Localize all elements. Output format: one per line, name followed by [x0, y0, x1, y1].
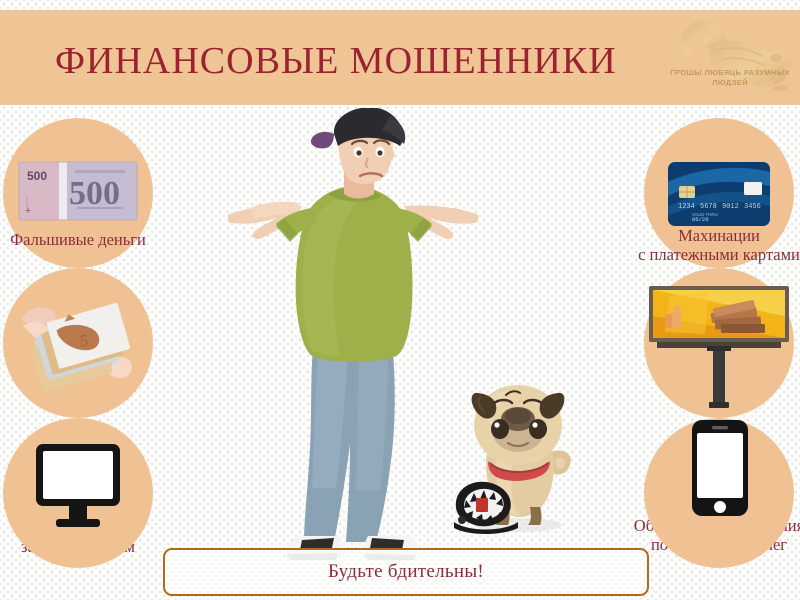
svg-text:500: 500: [69, 175, 120, 212]
svg-text:3456: 3456: [744, 203, 761, 211]
billboard-icon: [644, 268, 794, 418]
poster-canvas: ГРОШЫ ЛЮБЯЦЬ РАЗУМНЫХ ЛЮДЗЕЙ ФИНАНСОВЫЕ …: [0, 0, 800, 600]
callout-box[interactable]: Будьте бдительны!: [163, 548, 649, 596]
svg-text:5678: 5678: [700, 203, 717, 211]
svg-text:1234: 1234: [678, 203, 695, 211]
callout-text: Будьте бдительны!: [328, 561, 484, 583]
logo-caption: ГРОШЫ ЛЮБЯЦЬ РАЗУМНЫХ ЛЮДЗЕЙ: [664, 68, 796, 88]
hands-with-money-icon: 5: [3, 268, 153, 418]
topic-loan-fraud[interactable]: 5 Махинации с заимствованием: [3, 268, 153, 418]
topic-mobile-scams[interactable]: Аферы с мобильными телефонами: [644, 418, 794, 568]
svg-text:9012: 9012: [722, 203, 739, 211]
topic-internet-fraud[interactable]: Махинации в Интернете: [3, 418, 153, 568]
shrugging-man-illustration: [228, 108, 478, 563]
logo-caption-line-1: ГРОШЫ ЛЮБЯЦЬ: [670, 68, 741, 77]
topic-label-line-1: Фальшивые деньги: [0, 230, 195, 249]
topic-label-line-2: с платежными картами: [602, 245, 800, 264]
topic-label: Махинации с платежными картами: [602, 226, 800, 264]
page-title: ФИНАНСОВЫЕ МОШЕННИКИ: [55, 39, 617, 83]
header-banner: ГРОШЫ ЛЮБЯЦЬ РАЗУМНЫХ ЛЮДЗЕЙ ФИНАНСОВЫЕ …: [0, 10, 800, 105]
topic-payment-cards[interactable]: 1234 5678 9012 3456 VALID THRU 05/26 Мах…: [644, 118, 794, 268]
svg-text:5: 5: [79, 331, 89, 351]
cornucopia-logo-icon: [664, 14, 800, 105]
topic-label-line-1: Махинации: [602, 226, 800, 245]
svg-text:05/26: 05/26: [692, 216, 709, 223]
svg-text:+: +: [25, 205, 31, 217]
svg-text:500: 500: [27, 169, 47, 183]
topic-label: Фальшивые деньги: [0, 230, 195, 249]
topic-investment-offers[interactable]: Обманные предложения по вложению денег: [644, 268, 794, 418]
computer-monitor-icon: [3, 418, 153, 568]
topic-fake-money[interactable]: 500 500 + Фальшивые деньги: [3, 118, 153, 268]
mobile-phone-icon: [644, 418, 794, 568]
bear-trap-illustration: [452, 478, 522, 536]
